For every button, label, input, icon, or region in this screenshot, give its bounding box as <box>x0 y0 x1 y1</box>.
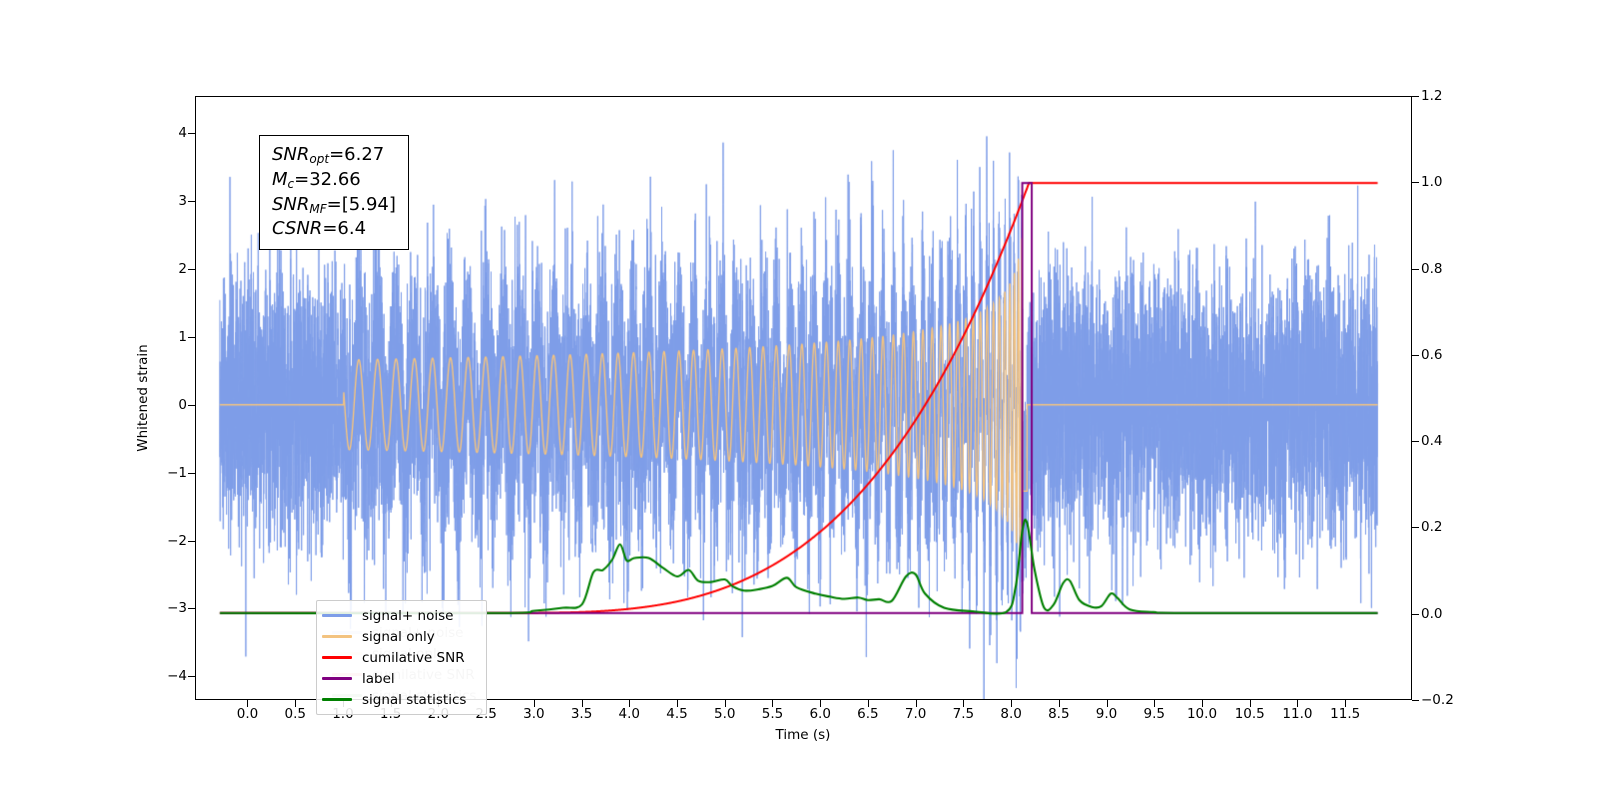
stat-snr-mf-label: SNR <box>272 194 309 215</box>
x-axis-tick-label: 10.0 <box>1187 706 1217 722</box>
x-axis-tick-label: 8.0 <box>1000 706 1021 722</box>
x-axis-tick-label: 4.0 <box>619 706 640 722</box>
legend-color-swatch <box>322 635 352 637</box>
legend-item-label: signal only <box>362 629 435 645</box>
legend-color-swatch <box>322 656 352 658</box>
x-axis-tick-label: 9.0 <box>1096 706 1117 722</box>
stat-snr-mf: SNRMF=[5.94] <box>272 193 396 218</box>
stat-snr-mf-sub: MF <box>309 202 326 216</box>
x-axis-tick-label: 3.0 <box>523 706 544 722</box>
x-axis-tick-label: 3.5 <box>571 706 592 722</box>
x-axis-tick-label: 11.0 <box>1282 706 1312 722</box>
y-axis-right-tick <box>1412 614 1419 615</box>
y-axis-right-tick-label: 0.6 <box>1421 347 1442 363</box>
legend-item[interactable]: signal only <box>322 626 480 647</box>
legend-color-swatch <box>322 698 352 700</box>
stat-csnr-value: =6.4 <box>322 218 366 239</box>
x-axis-tick-label: 9.5 <box>1144 706 1165 722</box>
y-axis-right-tick <box>1412 700 1419 701</box>
y-axis-right-tick-label: 1.2 <box>1421 88 1442 104</box>
x-axis-tick-label: 11.5 <box>1330 706 1360 722</box>
y-axis-right-tick-label: 0.8 <box>1421 261 1442 277</box>
legend-item-label: cumilative SNR <box>362 650 465 666</box>
stat-snr-opt: SNRopt=6.27 <box>272 143 396 168</box>
y-axis-left-tick-label: −4 <box>167 668 187 684</box>
y-axis-left-tick <box>188 201 195 202</box>
legend-item[interactable]: signal statistics <box>322 689 480 710</box>
y-axis-left-tick <box>188 473 195 474</box>
y-axis-left-tick <box>188 405 195 406</box>
y-axis-left-tick-label: 2 <box>178 261 187 277</box>
y-axis-right-tick-label: 1.0 <box>1421 174 1442 190</box>
statistics-annotation-box: SNRopt=6.27 Mc=32.66 SNRMF=[5.94] CSNR=6… <box>259 135 409 250</box>
x-axis-tick-label: 5.5 <box>762 706 783 722</box>
stat-mc-value: =32.66 <box>294 169 361 190</box>
legend-item-label: label <box>362 671 395 687</box>
x-axis-tick-label: 0.0 <box>237 706 258 722</box>
y-axis-left-tick <box>188 608 195 609</box>
y-axis-left-tick-label: 1 <box>178 329 187 345</box>
x-axis-tick-label: 4.5 <box>666 706 687 722</box>
y-axis-left-tick-label: −3 <box>167 600 187 616</box>
y-axis-right-tick-label: 0.0 <box>1421 606 1442 622</box>
y-axis-right-tick-label: 0.4 <box>1421 433 1442 449</box>
y-axis-right-tick <box>1412 96 1419 97</box>
y-axis-left-tick <box>188 676 195 677</box>
y-axis-left-tick-label: 4 <box>178 125 187 141</box>
legend-color-swatch <box>322 614 352 616</box>
x-axis-tick-label: 7.5 <box>953 706 974 722</box>
stat-csnr-label: CSNR <box>272 218 322 239</box>
x-axis-tick-label: 6.5 <box>857 706 878 722</box>
stat-csnr: CSNR=6.4 <box>272 217 396 241</box>
y-axis-right-tick-label: −0.2 <box>1421 692 1454 708</box>
x-axis-tick-label: 8.5 <box>1048 706 1069 722</box>
x-axis-tick-label: 6.0 <box>809 706 830 722</box>
gravitational-wave-figure: Whitened strain Time (s) 43210−1−2−3−41.… <box>0 0 1600 800</box>
stat-snr-opt-sub: opt <box>309 152 329 166</box>
y-axis-left-tick-label: −2 <box>167 533 187 549</box>
stat-mc-label: M <box>272 169 288 190</box>
x-axis-tick-label: 5.0 <box>714 706 735 722</box>
y-axis-right-tick <box>1412 269 1419 270</box>
legend-item[interactable]: label <box>322 668 480 689</box>
x-axis-tick-label: 0.5 <box>284 706 305 722</box>
x-axis-tick-label: 10.5 <box>1235 706 1265 722</box>
y-axis-left-tick-label: −1 <box>167 465 187 481</box>
y-axis-left-tick <box>188 541 195 542</box>
y-axis-left-tick-label: 3 <box>178 193 187 209</box>
legend-item[interactable]: cumilative SNR <box>322 647 480 668</box>
stat-snr-mf-value: =[5.94] <box>327 194 396 215</box>
y-axis-left-title: Whitened strain <box>135 344 151 451</box>
legend-item-label: signal statistics <box>362 692 466 708</box>
legend[interactable]: signal+ noisesignal onlycumilative SNRla… <box>316 600 487 715</box>
y-axis-right-tick-label: 0.2 <box>1421 519 1442 535</box>
y-axis-left-tick <box>188 337 195 338</box>
y-axis-right-tick <box>1412 441 1419 442</box>
stat-mc: Mc=32.66 <box>272 168 396 193</box>
stat-snr-opt-value: =6.27 <box>329 144 384 165</box>
y-axis-left-tick <box>188 133 195 134</box>
y-axis-right-tick <box>1412 182 1419 183</box>
x-axis-tick-label: 7.0 <box>905 706 926 722</box>
legend-color-swatch <box>322 677 352 679</box>
x-axis-title: Time (s) <box>776 727 831 743</box>
legend-item[interactable]: signal+ noise <box>322 605 480 626</box>
stat-snr-opt-label: SNR <box>272 144 309 165</box>
y-axis-right-tick <box>1412 527 1419 528</box>
y-axis-right-tick <box>1412 355 1419 356</box>
y-axis-left-tick-label: 0 <box>178 397 187 413</box>
legend-item-label: signal+ noise <box>362 608 453 624</box>
y-axis-left-tick <box>188 269 195 270</box>
